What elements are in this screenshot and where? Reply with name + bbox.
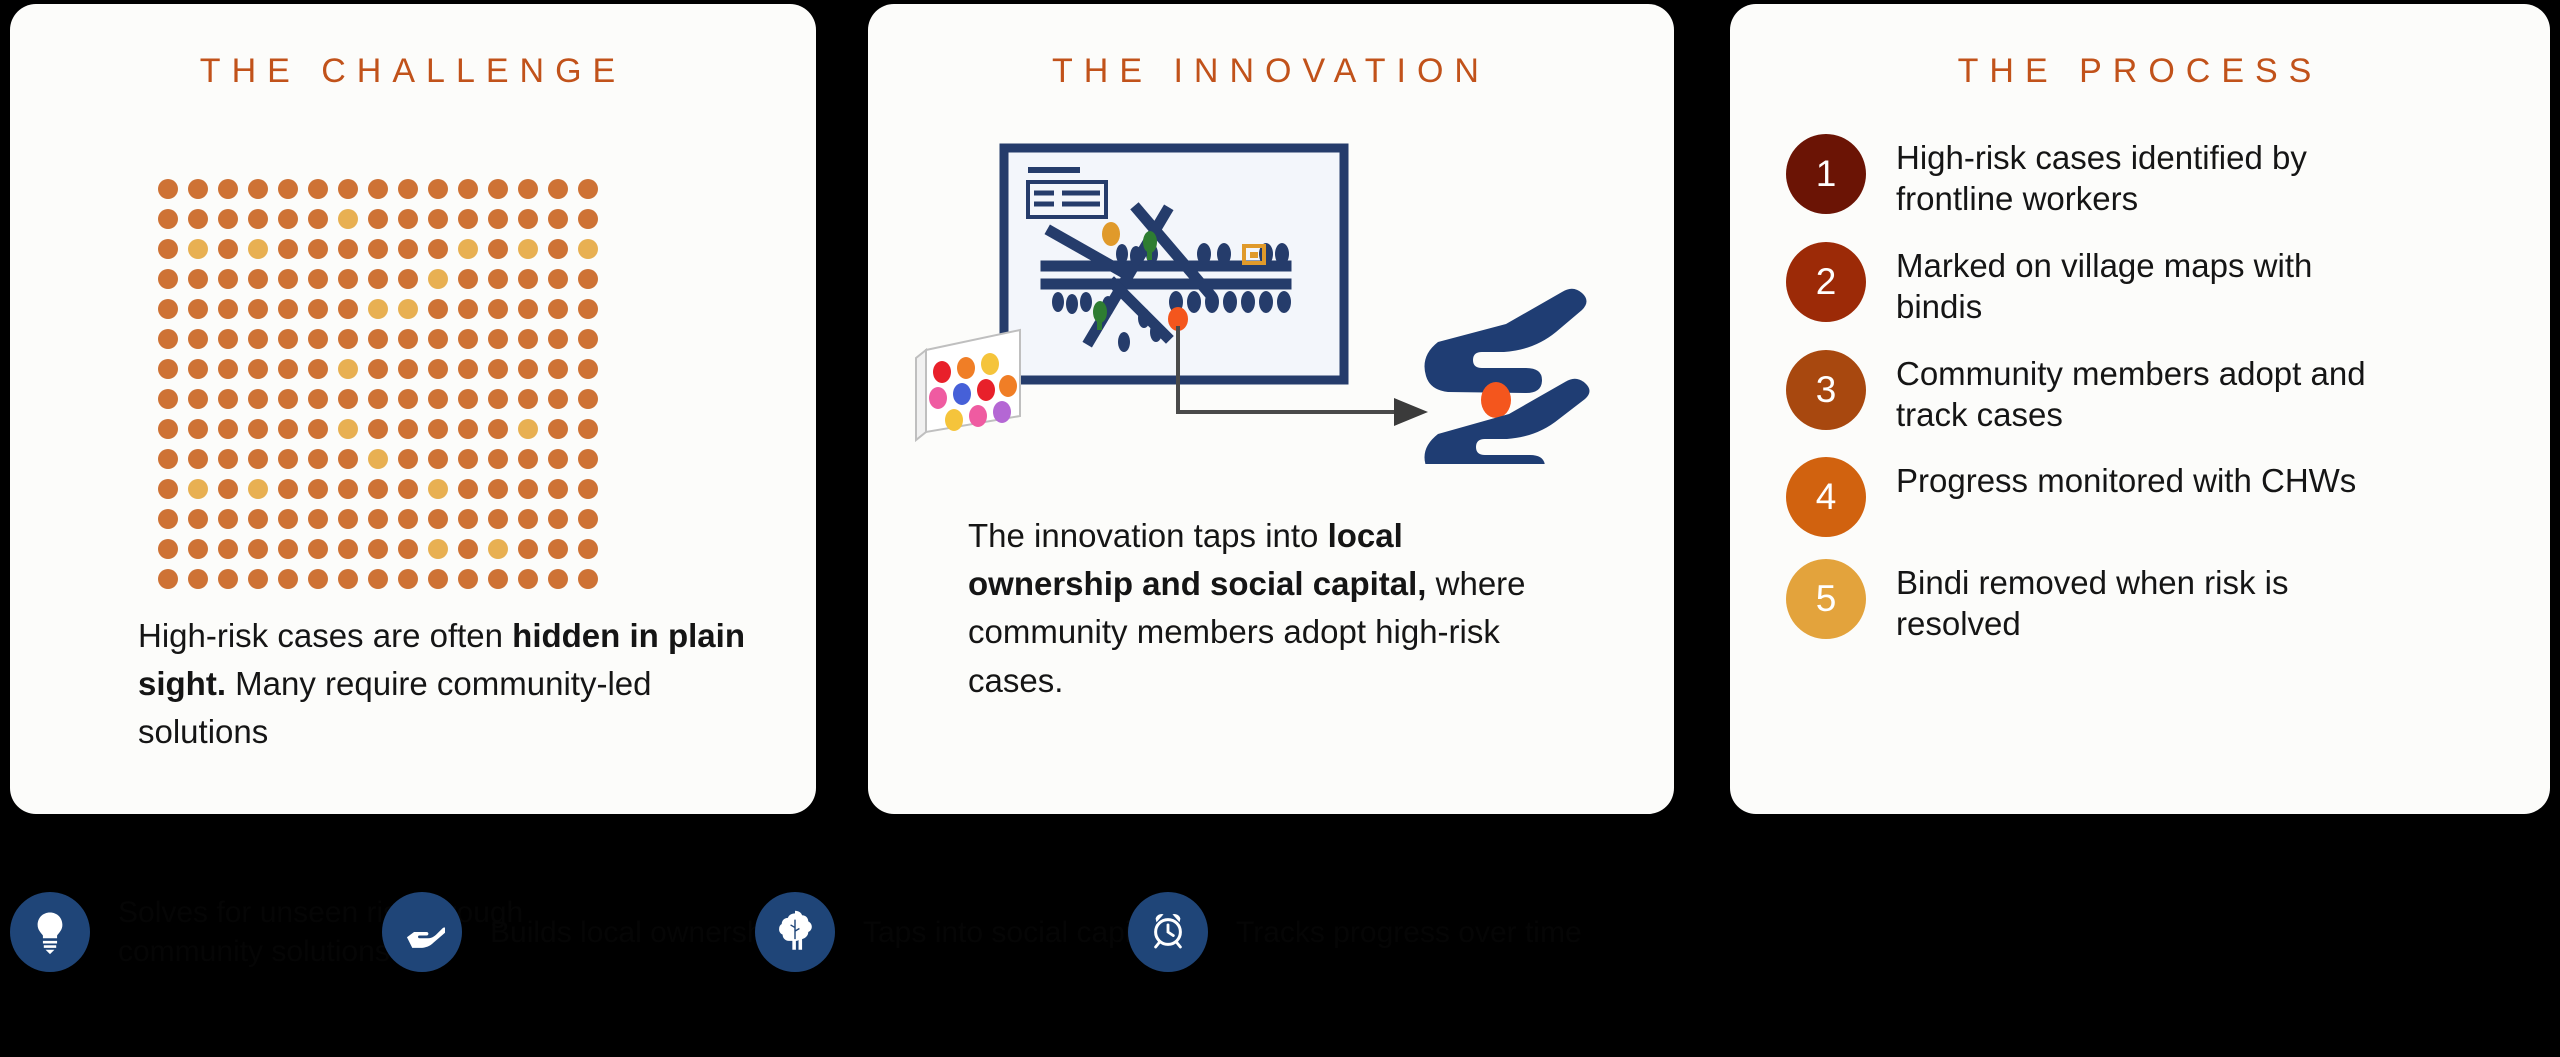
- grid-dot: [398, 449, 418, 469]
- cards-row: THE CHALLENGE High-risk cases are often …: [0, 0, 2560, 820]
- grid-dot: [278, 539, 298, 559]
- bottom-bar-item[interactable]: Taps into social capital: [755, 892, 1163, 972]
- step-label: Bindi removed when risk is resolved: [1896, 559, 2366, 645]
- grid-dot: [488, 329, 508, 349]
- grid-dot-highlighted: [338, 419, 358, 439]
- grid-dot: [578, 449, 598, 469]
- grid-dot: [248, 569, 268, 589]
- grid-dot: [248, 179, 268, 199]
- step-number-badge: 4: [1786, 457, 1866, 537]
- grid-dot: [188, 209, 208, 229]
- grid-dot: [338, 389, 358, 409]
- grid-dot: [338, 569, 358, 589]
- grid-dot: [518, 389, 538, 409]
- grid-dot: [458, 329, 478, 349]
- grid-dot: [368, 479, 388, 499]
- grid-dot: [368, 509, 388, 529]
- grid-dot: [248, 389, 268, 409]
- lightbulb-icon[interactable]: [10, 892, 90, 972]
- step-number-badge: 2: [1786, 242, 1866, 322]
- grid-dot: [578, 359, 598, 379]
- grid-dot: [338, 299, 358, 319]
- grid-dot-highlighted: [248, 479, 268, 499]
- grid-dot: [158, 419, 178, 439]
- card-title-innovation: THE INNOVATION: [868, 52, 1674, 91]
- bottom-icon-bar: Solves for unseen risk through community…: [0, 840, 2560, 1057]
- grid-dot: [308, 569, 328, 589]
- grid-dot: [548, 329, 568, 349]
- grid-dot: [278, 299, 298, 319]
- grid-dot: [488, 389, 508, 409]
- grid-dot: [488, 239, 508, 259]
- grid-dot: [338, 539, 358, 559]
- card-the-process: THE PROCESS 1High-risk cases identified …: [1730, 4, 2550, 814]
- grid-dot: [488, 359, 508, 379]
- grid-dot: [218, 179, 238, 199]
- grid-dot: [278, 449, 298, 469]
- alarm-clock-icon[interactable]: [1128, 892, 1208, 972]
- grid-dot: [158, 359, 178, 379]
- grid-dot: [548, 569, 568, 589]
- grid-dot: [518, 449, 538, 469]
- grid-dot: [158, 479, 178, 499]
- grid-dot: [368, 239, 388, 259]
- grid-dot: [578, 509, 598, 529]
- card-title-process: THE PROCESS: [1730, 52, 2550, 91]
- grid-dot: [218, 419, 238, 439]
- process-step-list: 1High-risk cases identified by frontline…: [1786, 134, 2510, 667]
- grid-dot: [308, 299, 328, 319]
- body-text-run: High-risk cases are often: [138, 617, 512, 654]
- grid-dot: [428, 509, 448, 529]
- grid-dot: [548, 449, 568, 469]
- grid-dot: [368, 269, 388, 289]
- grid-dot: [458, 509, 478, 529]
- grid-dot: [368, 419, 388, 439]
- grid-dot: [368, 329, 388, 349]
- grid-dot: [578, 539, 598, 559]
- grid-dot: [578, 329, 598, 349]
- grid-dot: [308, 509, 328, 529]
- grid-dot: [398, 419, 418, 439]
- grid-dot: [428, 239, 448, 259]
- bottom-bar-item[interactable]: Tracks progress over time: [1128, 892, 1582, 972]
- grid-dot: [458, 419, 478, 439]
- grid-dot: [248, 269, 268, 289]
- step-label: Community members adopt and track cases: [1896, 350, 2366, 436]
- grid-dot: [278, 479, 298, 499]
- whiteboard-icon: [1004, 148, 1344, 380]
- grid-dot: [278, 359, 298, 379]
- grid-dot: [518, 329, 538, 349]
- hand-offer-icon[interactable]: [382, 892, 462, 972]
- grid-dot: [308, 329, 328, 349]
- grid-dot: [368, 179, 388, 199]
- grid-dot-highlighted: [368, 299, 388, 319]
- grid-dot: [518, 539, 538, 559]
- grid-dot-highlighted: [338, 209, 358, 229]
- step-number-badge: 1: [1786, 134, 1866, 214]
- grid-dot: [548, 359, 568, 379]
- grid-dot: [188, 179, 208, 199]
- grid-dot: [278, 239, 298, 259]
- grid-dot: [518, 179, 538, 199]
- grid-dot: [428, 179, 448, 199]
- grid-dot: [308, 269, 328, 289]
- grid-dot: [188, 389, 208, 409]
- grid-dot: [578, 269, 598, 289]
- grid-dot: [308, 179, 328, 199]
- bindi-sticker-sheet-icon: [916, 330, 1020, 440]
- grid-dot: [218, 569, 238, 589]
- grid-dot: [158, 449, 178, 469]
- grid-dot: [518, 359, 538, 379]
- grid-dot-highlighted: [518, 239, 538, 259]
- grid-dot: [188, 329, 208, 349]
- grid-dot-highlighted: [428, 539, 448, 559]
- grid-dot: [458, 359, 478, 379]
- grid-dot: [428, 359, 448, 379]
- grid-dot: [278, 419, 298, 439]
- grid-dot: [248, 449, 268, 469]
- grid-dot: [308, 239, 328, 259]
- grid-dot: [368, 389, 388, 409]
- grid-dot: [188, 299, 208, 319]
- brain-icon[interactable]: [755, 892, 835, 972]
- grid-dot-highlighted: [338, 359, 358, 379]
- grid-dot: [398, 239, 418, 259]
- grid-dot-highlighted: [188, 239, 208, 259]
- grid-dot-highlighted: [248, 239, 268, 259]
- grid-dot: [218, 479, 238, 499]
- grid-dot: [398, 539, 418, 559]
- grid-dot: [518, 209, 538, 229]
- card-body-innovation: The innovation taps into local ownership…: [968, 512, 1568, 705]
- grid-dot: [518, 269, 538, 289]
- grid-dot: [278, 179, 298, 199]
- grid-dot: [188, 539, 208, 559]
- grid-dot: [578, 419, 598, 439]
- grid-dot: [158, 539, 178, 559]
- grid-dot: [518, 299, 538, 319]
- grid-dot: [428, 569, 448, 589]
- grid-dot: [398, 569, 418, 589]
- grid-dot: [218, 449, 238, 469]
- grid-dot: [428, 329, 448, 349]
- grid-dot: [278, 389, 298, 409]
- grid-dot: [188, 509, 208, 529]
- grid-dot-highlighted: [488, 539, 508, 559]
- bottom-bar-item-label: Taps into social capital: [863, 913, 1163, 952]
- grid-dot: [488, 419, 508, 439]
- grid-dot: [368, 569, 388, 589]
- grid-dot: [218, 329, 238, 349]
- grid-dot: [278, 269, 298, 289]
- grid-dot: [548, 299, 568, 319]
- grid-dot: [458, 539, 478, 559]
- grid-dot: [428, 389, 448, 409]
- grid-dot: [578, 479, 598, 499]
- grid-dot: [308, 389, 328, 409]
- grid-dot: [218, 389, 238, 409]
- grid-dot: [158, 569, 178, 589]
- grid-dot: [578, 209, 598, 229]
- grid-dot: [338, 269, 358, 289]
- step-number-badge: 5: [1786, 559, 1866, 639]
- process-step: 3Community members adopt and track cases: [1786, 350, 2510, 436]
- grid-dot-highlighted: [458, 239, 478, 259]
- grid-dot-highlighted: [368, 449, 388, 469]
- grid-dot: [188, 359, 208, 379]
- grid-dot: [278, 329, 298, 349]
- card-the-innovation: THE INNOVATION: [868, 4, 1674, 814]
- grid-dot: [548, 209, 568, 229]
- grid-dot: [308, 539, 328, 559]
- grid-dot: [458, 479, 478, 499]
- grid-dot: [368, 359, 388, 379]
- grid-dot: [458, 389, 478, 409]
- grid-dot: [428, 419, 448, 439]
- card-title-challenge: THE CHALLENGE: [10, 52, 816, 91]
- grid-dot: [548, 389, 568, 409]
- grid-dot: [488, 449, 508, 469]
- step-label: Marked on village maps with bindis: [1896, 242, 2366, 328]
- grid-dot: [218, 209, 238, 229]
- grid-dot: [548, 539, 568, 559]
- grid-dot: [398, 329, 418, 349]
- grid-dot: [248, 209, 268, 229]
- grid-dot: [158, 299, 178, 319]
- grid-dot: [548, 179, 568, 199]
- grid-dot: [398, 269, 418, 289]
- grid-dot: [188, 269, 208, 289]
- process-step: 2Marked on village maps with bindis: [1786, 242, 2510, 328]
- grid-dot: [338, 239, 358, 259]
- grid-dot: [488, 509, 508, 529]
- bottom-bar-item[interactable]: Builds local ownership: [382, 892, 787, 972]
- grid-dot: [158, 239, 178, 259]
- grid-dot: [398, 479, 418, 499]
- process-step: 4Progress monitored with CHWs: [1786, 457, 2510, 537]
- grid-dot: [338, 179, 358, 199]
- grid-dot: [188, 569, 208, 589]
- grid-dot: [218, 269, 238, 289]
- grid-dot: [158, 179, 178, 199]
- grid-dot: [488, 569, 508, 589]
- grid-dot: [458, 209, 478, 229]
- step-label: Progress monitored with CHWs: [1896, 457, 2356, 502]
- grid-dot: [458, 299, 478, 319]
- grid-dot: [158, 389, 178, 409]
- grid-dot: [578, 179, 598, 199]
- card-body-challenge: High-risk cases are often hidden in plai…: [138, 612, 778, 757]
- grid-dot-highlighted: [428, 479, 448, 499]
- grid-dot: [368, 539, 388, 559]
- grid-dot: [158, 329, 178, 349]
- body-text-run: The innovation taps into: [968, 517, 1328, 554]
- grid-dot: [398, 209, 418, 229]
- grid-dot: [308, 449, 328, 469]
- grid-dot: [248, 419, 268, 439]
- grid-dot: [218, 359, 238, 379]
- dot-grid-visual: [158, 179, 598, 589]
- grid-dot: [338, 329, 358, 349]
- grid-dot-highlighted: [398, 299, 418, 319]
- process-step: 5Bindi removed when risk is resolved: [1786, 559, 2510, 645]
- grid-dot: [188, 419, 208, 439]
- grid-dot: [308, 359, 328, 379]
- grid-dot: [458, 269, 478, 289]
- process-step: 1High-risk cases identified by frontline…: [1786, 134, 2510, 220]
- cupped-hands-icon: [1425, 289, 1590, 464]
- grid-dot: [218, 509, 238, 529]
- grid-dot: [308, 209, 328, 229]
- grid-dot: [218, 539, 238, 559]
- grid-dot: [188, 449, 208, 469]
- grid-dot: [428, 449, 448, 469]
- bottom-bar-item-label: Tracks progress over time: [1236, 913, 1582, 952]
- grid-dot: [158, 509, 178, 529]
- grid-dot: [338, 449, 358, 469]
- grid-dot-highlighted: [188, 479, 208, 499]
- grid-dot: [248, 509, 268, 529]
- grid-dot-highlighted: [428, 269, 448, 289]
- grid-dot: [338, 509, 358, 529]
- grid-dot: [218, 299, 238, 319]
- grid-dot: [338, 479, 358, 499]
- grid-dot: [428, 209, 448, 229]
- grid-dot: [368, 209, 388, 229]
- grid-dot: [248, 299, 268, 319]
- village-map-illustration: [908, 114, 1638, 464]
- grid-dot: [278, 569, 298, 589]
- grid-dot: [458, 179, 478, 199]
- bindi-dot-icon: [1481, 382, 1511, 418]
- grid-dot: [578, 299, 598, 319]
- slide-canvas: THE CHALLENGE High-risk cases are often …: [0, 0, 2560, 1057]
- grid-dot: [278, 509, 298, 529]
- card-the-challenge: THE CHALLENGE High-risk cases are often …: [10, 4, 816, 814]
- grid-dot: [398, 359, 418, 379]
- grid-dot: [488, 479, 508, 499]
- grid-dot: [308, 479, 328, 499]
- bottom-bar-item-label: Builds local ownership: [490, 913, 787, 952]
- grid-dot: [548, 419, 568, 439]
- grid-dot: [548, 269, 568, 289]
- grid-dot: [158, 209, 178, 229]
- marker-yellow-icon: [1102, 222, 1120, 246]
- grid-dot: [248, 329, 268, 349]
- grid-dot: [518, 569, 538, 589]
- grid-dot: [308, 419, 328, 439]
- grid-dot: [488, 209, 508, 229]
- grid-dot: [518, 509, 538, 529]
- grid-dot: [218, 239, 238, 259]
- grid-dot: [518, 479, 538, 499]
- grid-dot-highlighted: [518, 419, 538, 439]
- grid-dot: [548, 239, 568, 259]
- grid-dot: [578, 389, 598, 409]
- grid-dot: [488, 179, 508, 199]
- step-number-badge: 3: [1786, 350, 1866, 430]
- grid-dot: [548, 479, 568, 499]
- grid-dot: [488, 269, 508, 289]
- grid-dot: [488, 299, 508, 319]
- grid-dot: [398, 389, 418, 409]
- grid-dot: [428, 299, 448, 319]
- step-label: High-risk cases identified by frontline …: [1896, 134, 2366, 220]
- grid-dot: [398, 509, 418, 529]
- grid-dot-highlighted: [578, 239, 598, 259]
- grid-dot: [458, 569, 478, 589]
- grid-dot: [548, 509, 568, 529]
- grid-dot: [158, 269, 178, 289]
- grid-dot: [278, 209, 298, 229]
- grid-dot: [398, 179, 418, 199]
- grid-dot: [578, 569, 598, 589]
- grid-dot: [248, 539, 268, 559]
- grid-dot: [248, 359, 268, 379]
- grid-dot: [458, 449, 478, 469]
